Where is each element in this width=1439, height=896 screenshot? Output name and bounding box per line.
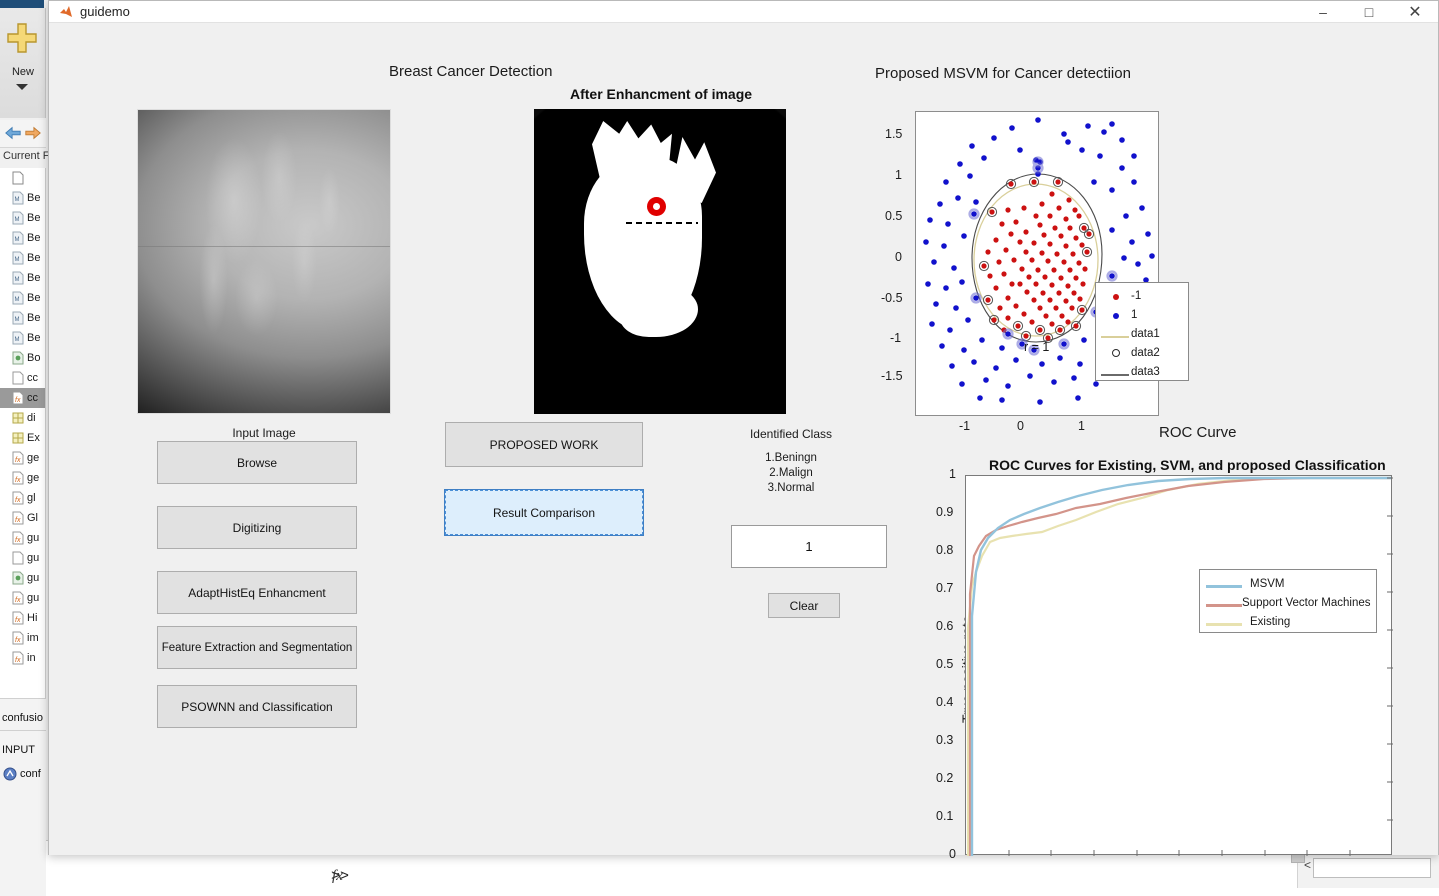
legend-item: 1: [1101, 305, 1183, 324]
svg-text:M: M: [15, 257, 20, 263]
svg-text:M: M: [15, 217, 20, 223]
file-icon: [12, 551, 24, 565]
list-item-label: Be: [27, 252, 40, 264]
legend-marker-line: [1206, 623, 1242, 626]
ide-ribbon: New: [0, 8, 46, 118]
msvm-ytick: 1.5: [885, 127, 902, 141]
legend-item: data3: [1101, 362, 1183, 381]
list-item-label: di: [27, 412, 36, 424]
list-item[interactable]: MBe: [0, 328, 45, 348]
browse-button[interactable]: Browse: [157, 441, 357, 484]
mammogram-scan-line: [138, 246, 390, 247]
msvm-legend: -1 1 data1 data2 data3: [1095, 282, 1189, 381]
msvm-xtick: 1: [1078, 419, 1085, 433]
m-file-icon: fx: [12, 511, 24, 525]
roc-chart-title: ROC Curve: [1159, 424, 1237, 441]
svg-text:M: M: [15, 297, 20, 303]
horizontal-scroll-field[interactable]: [1313, 858, 1431, 878]
figure-canvas: Breast Cancer Detection After Enhancment…: [49, 23, 1438, 855]
m-file-icon: M: [12, 291, 24, 305]
m-file-icon: fx: [12, 471, 24, 485]
file-icon: [12, 371, 24, 385]
list-item[interactable]: MBe: [0, 208, 45, 228]
identified-class-value-field[interactable]: 1: [731, 525, 887, 568]
legend-label: MSVM: [1250, 578, 1285, 590]
list-item[interactable]: gu: [0, 548, 45, 568]
roc-ytick: 0: [949, 847, 956, 861]
legend-marker-ring: [1112, 349, 1120, 357]
list-item[interactable]: fxgl: [0, 488, 45, 508]
m-file-icon: M: [12, 231, 24, 245]
maximize-button[interactable]: □: [1346, 1, 1392, 23]
msvm-xtick: 0: [1017, 419, 1024, 433]
m-file-icon: fx: [12, 391, 24, 405]
list-item-label: Be: [27, 212, 40, 224]
list-item-label: Be: [27, 272, 40, 284]
svg-text:fx: fx: [15, 517, 21, 524]
legend-label: Existing: [1250, 616, 1290, 628]
m-file-icon: M: [12, 331, 24, 345]
ide-lower-pane: confusio INPUT conf: [0, 698, 46, 896]
list-item-label: Be: [27, 312, 40, 324]
list-item-label: cc: [27, 392, 38, 404]
legend-marker-dot: [1113, 313, 1119, 319]
list-item-label: im: [27, 632, 39, 644]
m-file-icon: M: [12, 251, 24, 265]
legend-item: MSVM: [1206, 574, 1370, 593]
list-item[interactable]: MBe: [0, 248, 45, 268]
result-comparison-button[interactable]: Result Comparison: [445, 490, 643, 535]
legend-item: Support Vector Machines: [1206, 593, 1370, 612]
legend-label: -1: [1131, 290, 1141, 302]
enhanced-segmented-image: [534, 109, 786, 414]
list-item-label: Be: [27, 292, 40, 304]
list-item-label: ge: [27, 472, 39, 484]
roc-legend: MSVM Support Vector Machines Existing: [1199, 569, 1377, 633]
list-item[interactable]: fxin: [0, 648, 45, 668]
variable-icon: [3, 767, 17, 781]
msvm-ytick: 1: [895, 168, 902, 182]
m-file-icon: fx: [12, 531, 24, 545]
svg-text:fx: fx: [15, 637, 21, 644]
list-item-label: Be: [27, 192, 40, 204]
legend-item: Existing: [1206, 612, 1370, 631]
m-file-icon: fx: [12, 491, 24, 505]
svg-text:M: M: [15, 277, 20, 283]
list-item-label: in: [27, 652, 36, 664]
list-item-label: gu: [27, 552, 39, 564]
roc-ytick: 1: [949, 467, 956, 481]
psownn-classification-button[interactable]: PSOWNN and Classification: [157, 685, 357, 728]
current-folder-header: Current F: [0, 150, 46, 166]
list-item[interactable]: cc: [0, 368, 45, 388]
svg-text:M: M: [15, 337, 20, 343]
svg-text:M: M: [15, 317, 20, 323]
svg-text:fx: fx: [15, 597, 21, 604]
svg-text:fx: fx: [15, 457, 21, 464]
workspace-item-label[interactable]: conf: [20, 768, 41, 780]
file-icon: [12, 171, 24, 185]
class-option: 1.Beningn: [721, 451, 861, 466]
guidemo-figure-window: guidemo – □ ✕ Breast Cancer Detection Af…: [48, 0, 1439, 855]
list-item-label: Bo: [27, 352, 40, 364]
list-item[interactable]: di: [0, 408, 45, 428]
list-item-label: Gl: [27, 512, 38, 524]
roc-ytick: 0.3: [936, 733, 953, 747]
table-file-icon: [12, 411, 24, 425]
m-file-icon: fx: [12, 451, 24, 465]
list-item[interactable]: Ex: [0, 428, 45, 448]
mammogram-texture: [138, 110, 390, 413]
window-title: guidemo: [80, 4, 130, 19]
legend-item: data2: [1101, 343, 1183, 362]
legend-label: data3: [1131, 366, 1160, 378]
svg-text:fx: fx: [15, 477, 21, 484]
new-button-label[interactable]: New: [4, 66, 42, 78]
input-mammogram-image: [137, 109, 391, 414]
roc-ytick: 0.9: [936, 505, 953, 519]
roc-ytick: 0.6: [936, 619, 953, 633]
list-item[interactable]: MBe: [0, 308, 45, 328]
identified-class-label: Identified Class: [721, 427, 861, 441]
clear-button[interactable]: Clear: [768, 593, 840, 618]
list-item[interactable]: fxgu: [0, 528, 45, 548]
close-button[interactable]: ✕: [1392, 1, 1438, 23]
msvm-ytick: -0.5: [881, 291, 903, 305]
matlab-icon: [59, 5, 73, 19]
legend-label: 1: [1131, 309, 1137, 321]
workspace-input-label: INPUT: [2, 744, 35, 756]
legend-marker-line: [1206, 604, 1242, 607]
list-item-label: ge: [27, 452, 39, 464]
list-item[interactable]: fxge: [0, 468, 45, 488]
input-image-label: Input Image: [137, 426, 391, 440]
window-controls: – □ ✕: [1300, 1, 1438, 23]
list-item-label: Be: [27, 232, 40, 244]
roc-curves-plot: [966, 476, 1393, 856]
legend-item: data1: [1101, 324, 1183, 343]
mat-file-icon: [12, 351, 24, 365]
class-options-list: 1.Beningn 2.Malign 3.Normal: [721, 451, 861, 496]
segment-dashed-line: [626, 222, 698, 224]
m-file-icon: M: [12, 191, 24, 205]
list-item-label: gu: [27, 532, 39, 544]
list-item[interactable]: fxge: [0, 448, 45, 468]
list-item[interactable]: MBe: [0, 288, 45, 308]
list-item-label: Hi: [27, 612, 37, 624]
proposed-work-button[interactable]: PROPOSED WORK: [445, 422, 643, 467]
minimize-button[interactable]: –: [1300, 1, 1346, 23]
svg-text:M: M: [15, 237, 20, 243]
roc-axes: [965, 475, 1392, 855]
svg-text:fx: fx: [15, 537, 21, 544]
svg-text:fx: fx: [15, 657, 21, 664]
svg-text:fx: fx: [15, 497, 21, 504]
list-item-label: Ex: [27, 432, 40, 444]
list-item[interactable]: gu: [0, 568, 45, 588]
svg-text:fx: fx: [15, 617, 21, 624]
msvm-xtick: -1: [959, 419, 970, 433]
fx-icon: fx: [332, 868, 343, 885]
legend-label: data1: [1131, 328, 1160, 340]
digitizing-button[interactable]: Digitizing: [157, 506, 357, 549]
svg-text:M: M: [15, 197, 20, 203]
back-arrow-icon[interactable]: [4, 125, 22, 141]
list-item[interactable]: fxGl: [0, 508, 45, 528]
svg-text:fx: fx: [15, 397, 21, 404]
roc-axes-title: ROC Curves for Existing, SVM, and propos…: [989, 457, 1386, 473]
m-file-icon: fx: [12, 611, 24, 625]
list-item[interactable]: fxim: [0, 628, 45, 648]
legend-label: data2: [1131, 347, 1160, 359]
list-item[interactable]: fxHi: [0, 608, 45, 628]
page-title: Breast Cancer Detection: [389, 63, 552, 80]
class-option: 3.Normal: [721, 481, 861, 496]
list-item-label: gu: [27, 592, 39, 604]
list-item-label: cc: [27, 372, 38, 384]
roc-ytick: 0.8: [936, 543, 953, 557]
radius-annotation: r = 1: [1024, 340, 1049, 354]
msvm-chart-title: Proposed MSVM for Cancer detectiion: [875, 65, 1131, 82]
msvm-ytick: 0.5: [885, 209, 902, 223]
forward-arrow-icon[interactable]: [24, 125, 42, 141]
m-file-icon: M: [12, 211, 24, 225]
list-item-label: gl: [27, 492, 36, 504]
legend-item: -1: [1101, 286, 1183, 305]
list-item[interactable]: Bo: [0, 348, 45, 368]
legend-marker-line: [1101, 336, 1129, 338]
legend-marker-line: [1101, 374, 1129, 376]
roc-ytick: 0.7: [936, 581, 953, 595]
detail-panel-label: confusio: [2, 712, 43, 724]
list-item[interactable]: MBe: [0, 188, 45, 208]
m-file-icon: fx: [12, 591, 24, 605]
roc-ytick: 0.4: [936, 695, 953, 709]
list-item[interactable]: MBe: [0, 228, 45, 248]
window-titlebar: guidemo – □ ✕: [49, 1, 1438, 23]
ide-title-strip: [0, 0, 44, 8]
enhanced-image-title: After Enhancment of image: [570, 86, 752, 102]
list-item[interactable]: fxgu: [0, 588, 45, 608]
msvm-ytick: -1.5: [881, 369, 903, 383]
roc-ytick: 0.1: [936, 809, 953, 823]
msvm-ytick: 0: [895, 250, 902, 264]
new-dropdown-caret-icon[interactable]: [16, 84, 28, 90]
list-item-label: gu: [27, 572, 39, 584]
class-neg-points: [981, 179, 1091, 340]
table-file-icon: [12, 431, 24, 445]
tumor-marker-icon: [647, 197, 666, 216]
adapthisteq-enhancement-button[interactable]: AdaptHistEq Enhancment: [157, 571, 357, 614]
current-folder-file-list[interactable]: Be MBeMBeMBeMBeMBeMBeMBeMBeBoccfxccdiExf…: [0, 168, 46, 698]
m-file-icon: M: [12, 271, 24, 285]
scroll-left-arrow-icon[interactable]: <: [1304, 858, 1311, 872]
mat-file-icon: [12, 571, 24, 585]
list-item[interactable]: Be: [0, 168, 45, 188]
m-file-icon: fx: [12, 651, 24, 665]
new-file-icon[interactable]: [6, 22, 38, 54]
m-file-icon: M: [12, 311, 24, 325]
list-item[interactable]: MBe: [0, 268, 45, 288]
legend-marker-line: [1206, 585, 1242, 588]
class-option: 2.Malign: [721, 466, 861, 481]
list-item[interactable]: fxcc: [0, 388, 45, 408]
roc-ytick: 0.5: [936, 657, 953, 671]
feature-extraction-button[interactable]: Feature Extraction and Segmentation: [157, 626, 357, 669]
roc-ytick: 0.2: [936, 771, 953, 785]
list-item-label: Be: [27, 332, 40, 344]
msvm-ytick: -1: [890, 331, 901, 345]
legend-marker-dot: [1113, 294, 1119, 300]
m-file-icon: fx: [12, 631, 24, 645]
legend-label: Support Vector Machines: [1242, 597, 1371, 609]
